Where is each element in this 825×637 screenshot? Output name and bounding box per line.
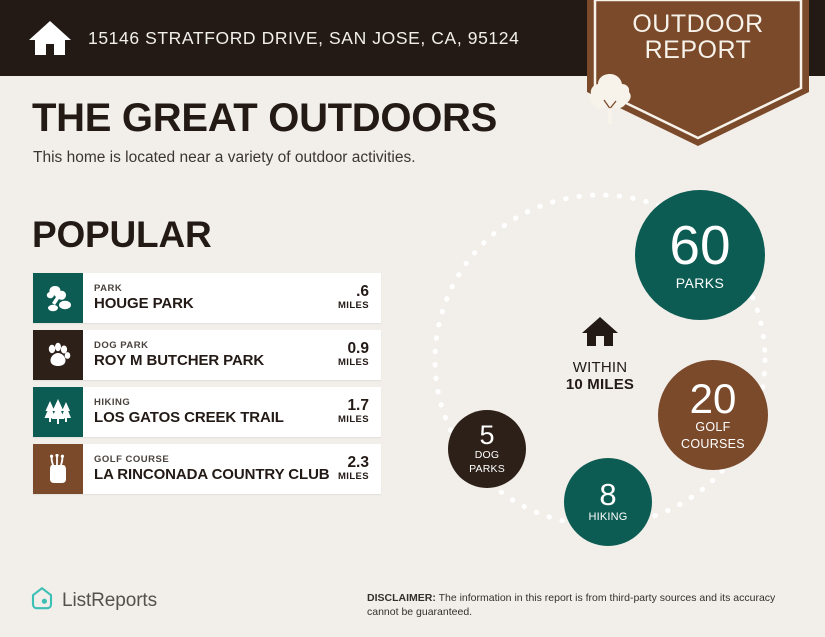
golf-bag-icon [33,444,83,494]
center-label-line-1: WITHIN [535,360,665,377]
badge-line-2: REPORT [587,38,809,64]
center-label-line-2: 10 MILES [535,377,665,394]
list-item-name: LOS GATOS CREEK TRAIL [94,409,332,426]
bubble-parks-value: 60 [669,219,730,271]
list-item-name: LA RINCONADA COUNTRY CLUB [94,466,332,483]
list-item-name: ROY M BUTCHER PARK [94,352,332,369]
header-content: 15146 STRATFORD DRIVE, SAN JOSE, CA, 951… [28,0,519,76]
bubble-hiking[interactable]: 8 HIKING [564,458,652,546]
popular-list: PARK HOUGE PARK .6 MILES DOG PARK [33,273,381,501]
infographic-page: 15146 STRATFORD DRIVE, SAN JOSE, CA, 951… [0,0,825,637]
badge-line-1: OUTDOOR [587,12,809,38]
bubble-golf-value: 20 [690,379,737,419]
outdoor-report-badge: OUTDOOR REPORT [587,0,809,146]
bubble-dog-parks[interactable]: 5 DOG PARKS [448,410,526,488]
listreports-logo[interactable]: ListReports [30,586,157,616]
bubble-hiking-label: HIKING [588,512,627,524]
bubble-hiking-value: 8 [599,480,616,509]
distance-value: 2.3 [347,455,369,471]
list-item-category: GOLF COURSE [94,454,332,466]
home-icon [535,315,665,353]
list-item-distance: 0.9 MILES [332,330,381,380]
listreports-house-icon [30,586,54,616]
park-tree-icon [33,273,83,323]
badge-title: OUTDOOR REPORT [587,12,809,63]
distance-unit: MILES [338,471,369,483]
bubble-golf-label-line-1: GOLF [695,421,730,435]
list-item[interactable]: DOG PARK ROY M BUTCHER PARK 0.9 MILES [33,330,381,380]
list-item-distance: .6 MILES [332,273,381,323]
page-title: THE GREAT OUTDOORS [32,98,497,138]
list-item-text: PARK HOUGE PARK [83,273,332,323]
chart-center-label: WITHIN 10 MILES [535,315,665,394]
list-item-category: HIKING [94,397,332,409]
section-title-popular: POPULAR [32,216,212,253]
distance-unit: MILES [338,414,369,426]
listreports-logo-text: ListReports [62,590,157,612]
within-10-miles-chart: 60 PARKS 20 GOLF COURSES 5 DOG PARKS 8 H… [410,170,825,570]
list-item-text: DOG PARK ROY M BUTCHER PARK [83,330,332,380]
disclaimer-label: DISCLAIMER: [367,592,436,604]
list-item-category: PARK [94,283,332,295]
list-item[interactable]: PARK HOUGE PARK .6 MILES [33,273,381,323]
property-address: 15146 STRATFORD DRIVE, SAN JOSE, CA, 951… [88,28,519,49]
list-item-name: HOUGE PARK [94,295,332,312]
list-item[interactable]: GOLF COURSE LA RINCONADA COUNTRY CLUB 2.… [33,444,381,494]
list-item-distance: 1.7 MILES [332,387,381,437]
home-icon [28,18,72,58]
list-item-text: GOLF COURSE LA RINCONADA COUNTRY CLUB [83,444,332,494]
bubble-dog-label-line-2: PARKS [469,464,505,475]
distance-unit: MILES [338,300,369,312]
list-item-category: DOG PARK [94,340,332,352]
list-item-distance: 2.3 MILES [332,444,381,494]
bubble-dog-value: 5 [479,423,494,449]
distance-value: 1.7 [347,398,369,414]
bubble-parks[interactable]: 60 PARKS [635,190,765,320]
disclaimer: DISCLAIMER: The information in this repo… [367,591,792,619]
page-subtitle: This home is located near a variety of o… [33,150,416,166]
distance-value: .6 [356,284,369,300]
bubble-golf-courses[interactable]: 20 GOLF COURSES [658,360,768,470]
paw-print-icon [33,330,83,380]
pine-trees-icon [33,387,83,437]
list-item[interactable]: HIKING LOS GATOS CREEK TRAIL 1.7 MILES [33,387,381,437]
bubble-golf-label-line-2: COURSES [681,438,745,452]
list-item-text: HIKING LOS GATOS CREEK TRAIL [83,387,332,437]
distance-value: 0.9 [347,341,369,357]
distance-unit: MILES [338,357,369,369]
bubble-dog-label-line-1: DOG [475,450,500,461]
bubble-parks-label: PARKS [676,276,724,291]
